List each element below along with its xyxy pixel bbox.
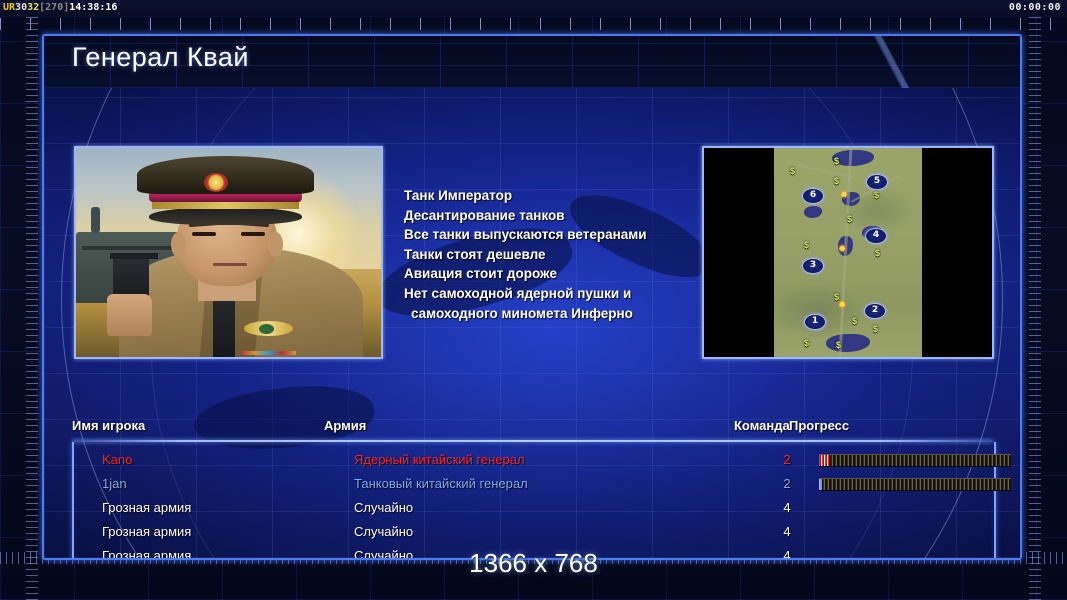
map-water — [826, 334, 870, 352]
status-bar: UR3032[270]14:38:16 00:00:00 — [0, 0, 1067, 17]
ability-line: Десантирование танков — [404, 206, 734, 226]
map-oil-derrick-icon: ✹ — [838, 244, 846, 255]
table-row[interactable]: Грозная армияСлучайно4 — [74, 520, 994, 544]
map-supply-icon: $ — [834, 176, 839, 186]
cell-army: Случайно — [354, 496, 413, 520]
player-table: KanoЯдерный китайский генерал21janТанков… — [72, 442, 996, 558]
ability-line: Авиация стоит дороже — [404, 264, 734, 284]
portrait-ribbon-bar — [241, 351, 296, 355]
progress-bar-fill — [819, 455, 829, 466]
ability-line: Нет самоходной ядерной пушки и — [404, 284, 734, 304]
cell-player-name: Грозная армия — [102, 496, 191, 520]
cell-army: Танковый китайский генерал — [354, 472, 528, 496]
resolution-label: 1366 x 768 — [0, 548, 1067, 588]
status-clock: 14:38:16 — [69, 2, 117, 13]
map-supply-icon: $ — [804, 240, 809, 250]
ability-line: самоходного миномета Инферно — [404, 304, 734, 324]
map-start-position-6[interactable]: 6 — [802, 188, 824, 204]
map-supply-icon: $ — [874, 190, 879, 200]
portrait-mouth — [213, 263, 247, 266]
map-supply-icon: $ — [804, 338, 809, 348]
map-supply-icon: $ — [834, 156, 839, 166]
portrait-cap-visor — [149, 207, 302, 226]
portrait-hand — [107, 294, 153, 336]
cell-team: 4 — [764, 496, 810, 520]
cell-army: Случайно — [354, 520, 413, 544]
map-start-position-2[interactable]: 2 — [864, 303, 886, 319]
cell-army: Ядерный китайский генерал — [354, 448, 525, 472]
ruler-left — [26, 16, 38, 600]
progress-bar — [819, 478, 1011, 491]
col-header-progress: Прогресс — [789, 418, 849, 433]
map-water — [804, 206, 822, 218]
col-header-team: Команда — [734, 418, 780, 433]
progress-bar — [819, 454, 1011, 467]
map-supply-icon: $ — [836, 340, 841, 350]
page-title: Генерал Квай — [72, 42, 249, 73]
status-bracket: [270] — [39, 2, 69, 13]
map-preview[interactable]: 6 5 4 3 2 1 $ $ $ $ $ $ $ $ $ — [702, 146, 994, 359]
panel-body: Танк Император Десантирование танков Все… — [44, 88, 1020, 558]
ruler-right — [1029, 16, 1041, 600]
status-num2: 32 — [27, 2, 39, 13]
cell-player-name: Грозная армия — [102, 520, 191, 544]
map-oil-derrick-icon: ✹ — [838, 300, 846, 311]
ruler-top — [0, 18, 1067, 30]
table-row[interactable]: KanoЯдерный китайский генерал2 — [74, 448, 994, 472]
portrait-insignia-center — [259, 324, 274, 334]
portrait-pistol-slide — [110, 253, 159, 259]
cell-team: 2 — [764, 472, 810, 496]
map-start-position-4[interactable]: 4 — [865, 228, 887, 244]
map-supply-icon: $ — [875, 248, 880, 258]
cell-team: 4 — [764, 520, 810, 544]
cell-player-name: Kano — [102, 448, 132, 472]
cell-team: 2 — [764, 448, 810, 472]
map-supply-icon: $ — [852, 316, 857, 326]
col-header-army: Армия — [324, 418, 366, 433]
ability-line: Танки стоят дешевле — [404, 245, 734, 265]
col-header-name: Имя игрока — [72, 418, 145, 433]
status-num1: 30 — [15, 2, 27, 13]
map-supply-icon: $ — [790, 166, 795, 176]
map-start-position-3[interactable]: 3 — [802, 258, 824, 274]
map-terrain: 6 5 4 3 2 1 $ $ $ $ $ $ $ $ $ — [774, 148, 922, 357]
general-abilities-list: Танк Император Десантирование танков Все… — [404, 186, 734, 323]
portrait-background-figure — [91, 207, 100, 233]
map-supply-icon: $ — [847, 214, 852, 224]
portrait-ear-left — [171, 232, 186, 257]
table-row[interactable]: Грозная армияСлучайно4 — [74, 496, 994, 520]
header-diagonal-accent — [770, 36, 1020, 90]
status-tag: UR — [3, 2, 15, 13]
progress-bar-fill — [819, 479, 822, 490]
player-table-header: Имя игрока Армия Команда Прогресс — [44, 418, 1020, 440]
map-start-position-1[interactable]: 1 — [804, 314, 826, 330]
map-start-position-5[interactable]: 5 — [866, 174, 888, 190]
map-supply-icon: $ — [873, 324, 878, 334]
panel-header: Генерал Квай — [44, 36, 1020, 90]
cell-player-name: 1jan — [102, 472, 127, 496]
game-timer: 00:00:00 — [1009, 0, 1061, 16]
portrait-tank-detail — [82, 246, 174, 250]
map-road — [794, 164, 853, 178]
general-portrait — [74, 146, 383, 359]
game-lobby-screen: UR3032[270]14:38:16 00:00:00 Генерал Ква… — [0, 0, 1067, 600]
ability-line: Танк Император — [404, 186, 734, 206]
table-row[interactable]: 1janТанковый китайский генерал2 — [74, 472, 994, 496]
portrait-eye-right — [241, 232, 265, 236]
map-oil-derrick-icon: ✹ — [840, 190, 848, 201]
main-panel: Генерал Квай — [42, 34, 1022, 560]
ability-line: Все танки выпускаются ветеранами — [404, 225, 734, 245]
status-bar-left: UR3032[270]14:38:16 — [3, 0, 117, 16]
portrait-eye-left — [192, 232, 216, 236]
